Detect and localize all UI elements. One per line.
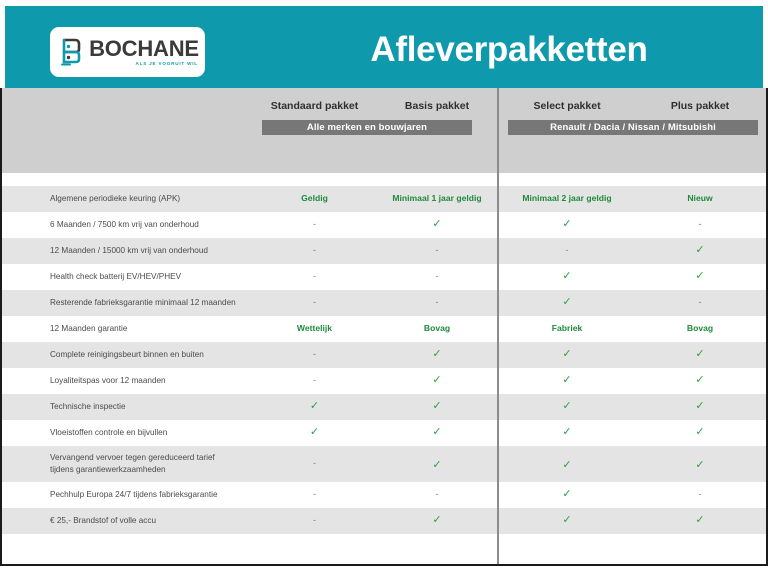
row-label: 6 Maanden / 7500 km vrij van onderhoud <box>50 219 199 231</box>
cell-check-icon: ✓ <box>500 458 634 471</box>
cell-check-icon: ✓ <box>634 513 766 526</box>
table-row: Technische inspectie✓✓✓✓ <box>0 394 768 420</box>
row-label: Technische inspectie <box>50 401 126 413</box>
cell-check-icon: ✓ <box>252 399 377 412</box>
cell-value: Wettelijk <box>252 323 377 333</box>
table-left-border <box>0 88 2 566</box>
cell-check-icon: ✓ <box>252 425 377 438</box>
bochane-car-mark-icon <box>58 37 84 67</box>
cell-check-icon: ✓ <box>377 425 497 438</box>
column-header-plus: Plus pakket <box>634 100 766 112</box>
logo-tagline: ALS JE VOORUIT WIL <box>136 62 198 67</box>
cell-dash: - <box>377 271 497 281</box>
bochane-logo: BOCHANE ALS JE VOORUIT WIL <box>50 27 205 77</box>
table-row: 12 Maanden / 15000 km vrij van onderhoud… <box>0 238 768 264</box>
row-label: Algemene periodieke keuring (APK) <box>50 193 180 205</box>
cell-value: Nieuw <box>634 193 766 203</box>
row-label: Pechhulp Europa 24/7 tijdens fabrieksgar… <box>50 489 218 501</box>
cell-check-icon: ✓ <box>500 399 634 412</box>
top-banner: BOCHANE ALS JE VOORUIT WIL Afleverpakket… <box>5 6 763 88</box>
row-label: Vervangend vervoer tegen gereduceerd tar… <box>50 452 215 476</box>
cell-dash: - <box>252 458 377 468</box>
cell-check-icon: ✓ <box>377 513 497 526</box>
table-row: Pechhulp Europa 24/7 tijdens fabrieksgar… <box>0 482 768 508</box>
table-row: Vloeistoffen controle en bijvullen✓✓✓✓ <box>0 420 768 446</box>
cell-dash: - <box>252 271 377 281</box>
cell-check-icon: ✓ <box>500 269 634 282</box>
cell-check-icon: ✓ <box>500 347 634 360</box>
group-divider <box>497 88 499 566</box>
cell-check-icon: ✓ <box>500 217 634 230</box>
cell-check-icon: ✓ <box>634 243 766 256</box>
cell-check-icon: ✓ <box>377 373 497 386</box>
table-row: Resterende fabrieksgarantie minimaal 12 … <box>0 290 768 316</box>
header-body-gap <box>0 173 768 186</box>
row-label: 12 Maanden garantie <box>50 323 127 335</box>
cell-check-icon: ✓ <box>377 217 497 230</box>
table-right-border <box>766 88 768 566</box>
logo-wordmark: BOCHANE <box>89 38 199 60</box>
cell-dash: - <box>500 245 634 255</box>
cell-check-icon: ✓ <box>500 425 634 438</box>
cell-dash: - <box>252 219 377 229</box>
table-row: Loyaliteitspas voor 12 maanden-✓✓✓ <box>0 368 768 394</box>
ribbon-merken-select-plus: Renault / Dacia / Nissan / Mitsubishi <box>508 120 758 135</box>
cell-value: Fabriek <box>500 323 634 333</box>
afleverpakketten-page: BOCHANE ALS JE VOORUIT WIL Afleverpakket… <box>0 0 768 576</box>
cell-check-icon: ✓ <box>377 399 497 412</box>
table-row: Algemene periodieke keuring (APK)GeldigM… <box>0 186 768 212</box>
column-header-standaard: Standaard pakket <box>252 100 377 112</box>
row-label: Complete reinigingsbeurt binnen en buite… <box>50 349 204 361</box>
cell-check-icon: ✓ <box>500 295 634 308</box>
cell-value: Bovag <box>634 323 766 333</box>
cell-dash: - <box>634 297 766 307</box>
cell-value: Minimaal 1 jaar geldig <box>377 193 497 203</box>
cell-dash: - <box>252 375 377 385</box>
cell-value: Minimaal 2 jaar geldig <box>500 193 634 203</box>
table-row: Health check batterij EV/HEV/PHEV--✓✓ <box>0 264 768 290</box>
row-label: € 25,- Brandstof of volle accu <box>50 515 156 527</box>
comparison-table: Algemene periodieke keuring (APK)GeldigM… <box>0 173 768 555</box>
table-row: 6 Maanden / 7500 km vrij van onderhoud-✓… <box>0 212 768 238</box>
page-title: Afleverpakketten <box>255 12 763 88</box>
row-label: Health check batterij EV/HEV/PHEV <box>50 271 181 283</box>
cell-check-icon: ✓ <box>377 458 497 471</box>
ribbon-alle-merken: Alle merken en bouwjaren <box>262 120 472 135</box>
cell-dash: - <box>252 297 377 307</box>
cell-check-icon: ✓ <box>377 347 497 360</box>
cell-check-icon: ✓ <box>634 399 766 412</box>
table-row: 12 Maanden garantieWettelijkBovagFabriek… <box>0 316 768 342</box>
cell-value: Geldig <box>252 193 377 203</box>
cell-check-icon: ✓ <box>634 425 766 438</box>
cell-check-icon: ✓ <box>500 373 634 386</box>
cell-check-icon: ✓ <box>500 487 634 500</box>
cell-check-icon: ✓ <box>634 269 766 282</box>
table-row: Vervangend vervoer tegen gereduceerd tar… <box>0 446 768 482</box>
cell-dash: - <box>377 245 497 255</box>
row-label: Loyaliteitspas voor 12 maanden <box>50 375 166 387</box>
cell-check-icon: ✓ <box>500 513 634 526</box>
column-header-select: Select pakket <box>500 100 634 112</box>
cell-dash: - <box>377 297 497 307</box>
column-header-basis: Basis pakket <box>377 100 497 112</box>
row-label: Vloeistoffen controle en bijvullen <box>50 427 167 439</box>
cell-dash: - <box>634 489 766 499</box>
cell-dash: - <box>252 349 377 359</box>
cell-dash: - <box>252 489 377 499</box>
row-label: Resterende fabrieksgarantie minimaal 12 … <box>50 297 236 309</box>
table-row: Complete reinigingsbeurt binnen en buite… <box>0 342 768 368</box>
cell-dash: - <box>252 515 377 525</box>
cell-dash: - <box>634 219 766 229</box>
cell-dash: - <box>377 489 497 499</box>
cell-check-icon: ✓ <box>634 373 766 386</box>
table-header-band: Totaalprijs Standaard pakket Basis pakke… <box>0 88 768 173</box>
table-row: € 25,- Brandstof of volle accu-✓✓✓ <box>0 508 768 534</box>
row-label: 12 Maanden / 15000 km vrij van onderhoud <box>50 245 208 257</box>
cell-check-icon: ✓ <box>634 347 766 360</box>
cell-value: Bovag <box>377 323 497 333</box>
cell-check-icon: ✓ <box>634 458 766 471</box>
table-bottom-border <box>0 564 768 566</box>
cell-dash: - <box>252 245 377 255</box>
